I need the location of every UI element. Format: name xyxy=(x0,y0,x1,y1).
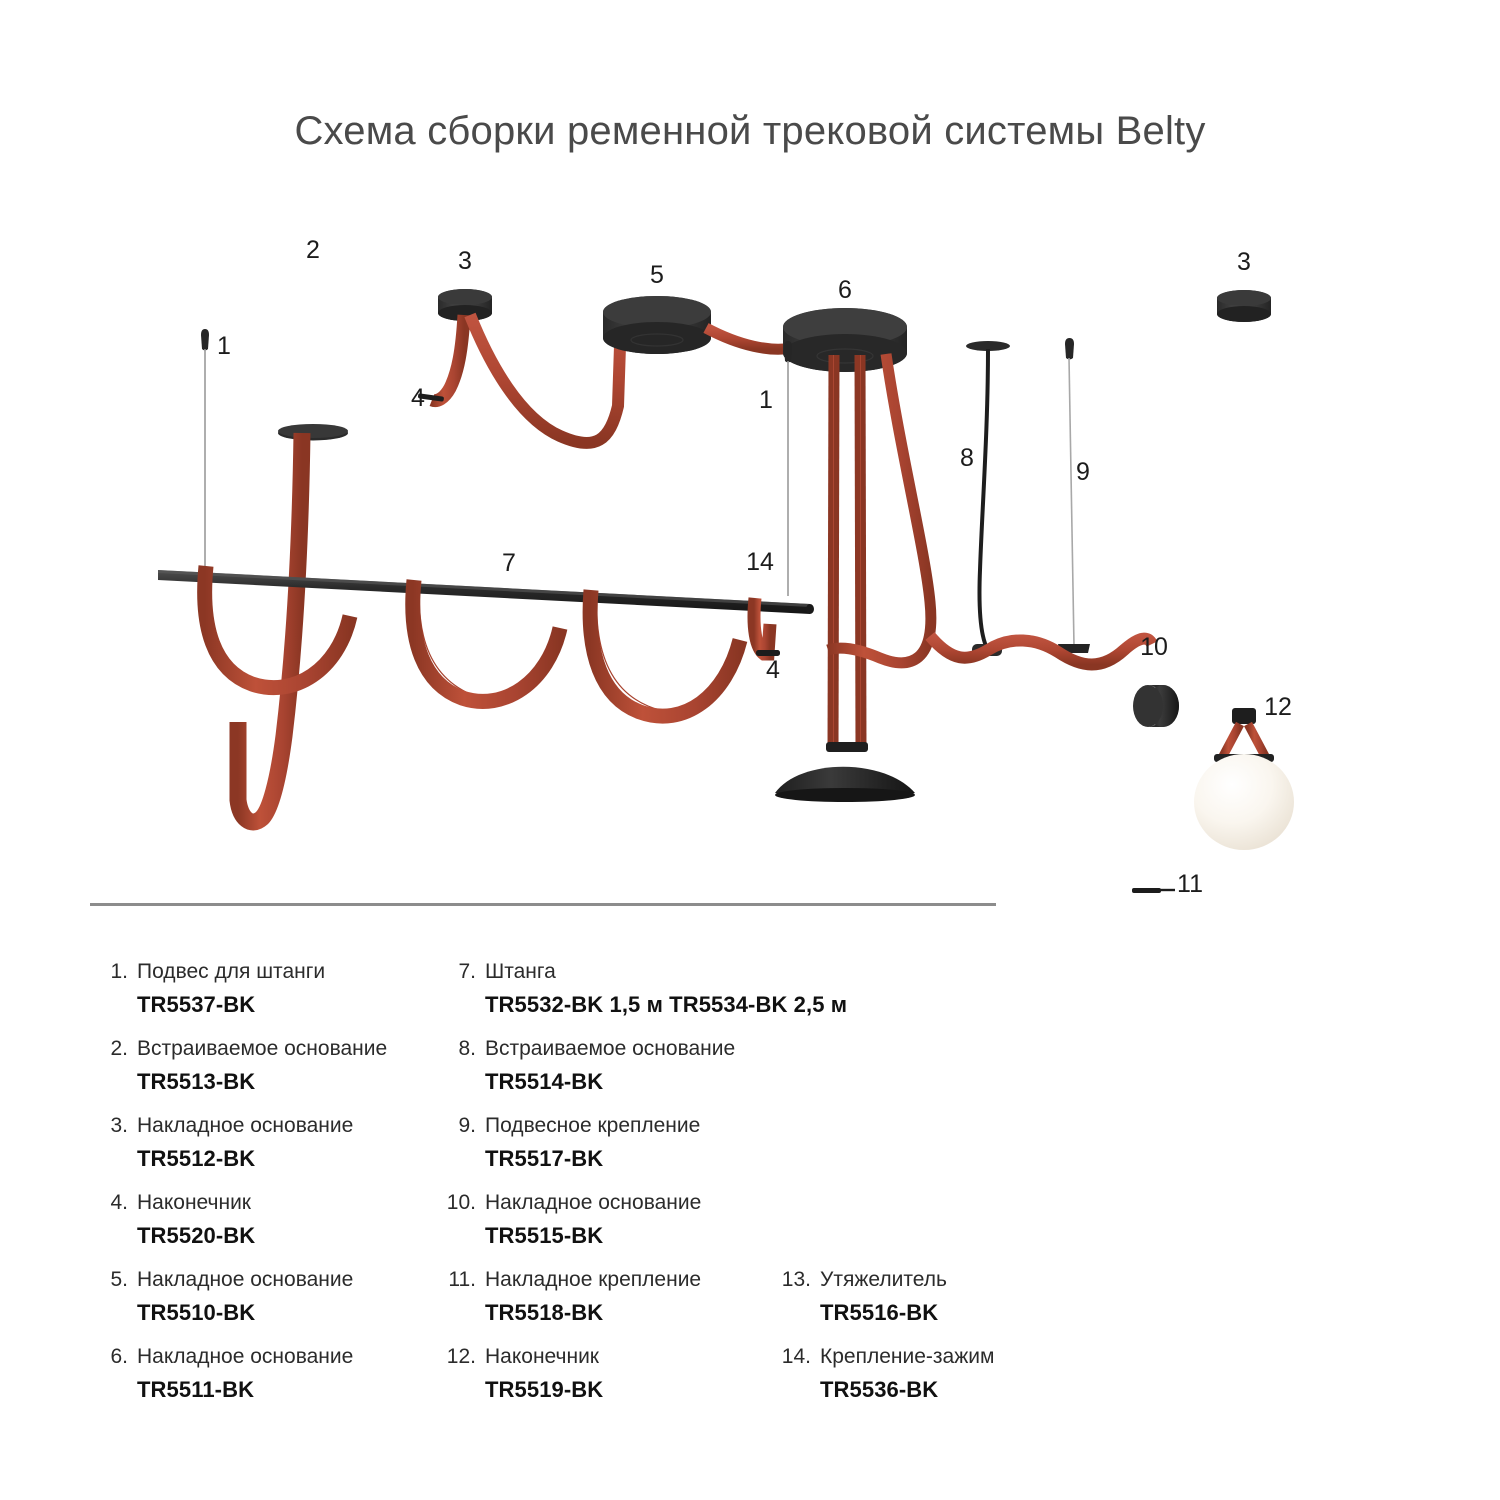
legend-item-code: TR5512-BK xyxy=(137,1146,353,1172)
legend-item: 11.Накладное креплениеTR5518-BK xyxy=(440,1268,701,1326)
legend-item-number: 2. xyxy=(104,1037,128,1060)
straps-from-base-6 xyxy=(828,354,931,750)
callout-14: 14 xyxy=(746,548,774,576)
legend-item-code: TR5518-BK xyxy=(485,1300,701,1326)
legend-item-name: Встраиваемое основание xyxy=(485,1037,735,1060)
assembly-diagram: 1234561714489103121113 xyxy=(0,150,1500,930)
legend-item-name: Подвесное крепление xyxy=(485,1114,700,1137)
legend-item-number: 1. xyxy=(104,960,128,983)
legend-item-number: 8. xyxy=(440,1037,476,1060)
legend-item-code: TR5517-BK xyxy=(485,1146,700,1172)
legend-item-name: Накладное основание xyxy=(137,1114,353,1137)
legend-item-name: Накладное основание xyxy=(137,1345,353,1368)
callout-12: 12 xyxy=(1264,693,1292,721)
legend-item-number: 5. xyxy=(104,1268,128,1291)
legend-item-head: 7.Штанга xyxy=(440,960,847,983)
legend-item-code: TR5510-BK xyxy=(137,1300,353,1326)
legend-item: 2.Встраиваемое основаниеTR5513-BK xyxy=(104,1037,387,1095)
callout-5: 5 xyxy=(650,261,664,289)
callout-1: 1 xyxy=(759,386,773,414)
callout-1: 1 xyxy=(217,332,231,360)
legend-item-head: 13.Утяжелитель xyxy=(775,1268,947,1291)
legend-item-code: TR5514-BK xyxy=(485,1069,735,1095)
legend-item: 13.УтяжелительTR5516-BK xyxy=(775,1268,947,1326)
callout-9: 9 xyxy=(1076,458,1090,486)
legend-item-name: Подвес для штанги xyxy=(137,960,325,983)
page-title: Схема сборки ременной трековой системы B… xyxy=(0,109,1500,154)
callout-10: 10 xyxy=(1140,633,1168,661)
legend-item: 5.Накладное основаниеTR5510-BK xyxy=(104,1268,353,1326)
legend-item-name: Утяжелитель xyxy=(820,1268,947,1291)
legend-item-code: TR5516-BK xyxy=(820,1300,947,1326)
legend-item: 9.Подвесное креплениеTR5517-BK xyxy=(440,1114,700,1172)
legend-item-name: Накладное основание xyxy=(137,1268,353,1291)
callout-3: 3 xyxy=(458,247,472,275)
legend-item: 6.Накладное основаниеTR5511-BK xyxy=(104,1345,353,1403)
part-1-rod-suspension-left xyxy=(201,329,209,580)
callout-3: 3 xyxy=(1237,248,1251,276)
legend-item-code: TR5519-BK xyxy=(485,1377,603,1403)
legend-item-head: 11.Накладное крепление xyxy=(440,1268,701,1291)
callout-4: 4 xyxy=(411,384,425,412)
legend-item-head: 1.Подвес для штанги xyxy=(104,960,325,983)
legend-item-head: 4.Наконечник xyxy=(104,1191,255,1214)
legend-item-name: Наконечник xyxy=(137,1191,251,1214)
callout-7: 7 xyxy=(502,549,516,577)
part-9-suspension-mount xyxy=(1058,338,1090,653)
legend-item-number: 7. xyxy=(440,960,476,983)
legend-item-number: 9. xyxy=(440,1114,476,1137)
legend-item-number: 4. xyxy=(104,1191,128,1214)
legend-item: 1.Подвес для штангиTR5537-BK xyxy=(104,960,325,1018)
legend-item: 3.Накладное основаниеTR5512-BK xyxy=(104,1114,353,1172)
part-2-recessed-base xyxy=(278,424,348,441)
part-1-rod-suspension-middle xyxy=(784,341,792,596)
legend-item: 4.НаконечникTR5520-BK xyxy=(104,1191,255,1249)
part-12-end-cap xyxy=(1232,708,1256,724)
legend-item-code: TR5532-BK 1,5 м TR5534-BK 2,5 м xyxy=(485,992,847,1018)
legend-item-head: 10.Накладное основание xyxy=(440,1191,701,1214)
part-8-recessed-base xyxy=(966,341,1010,656)
globe-lamp-shade xyxy=(1194,754,1294,850)
legend-item: 7.ШтангаTR5532-BK 1,5 м TR5534-BK 2,5 м xyxy=(440,960,847,1018)
legend-item-head: 2.Встраиваемое основание xyxy=(104,1037,387,1060)
callout-2: 2 xyxy=(306,236,320,264)
cone-lamp-shade xyxy=(775,742,915,802)
legend-item-number: 14. xyxy=(775,1345,811,1368)
legend-divider xyxy=(90,903,996,906)
callout-4: 4 xyxy=(766,656,780,684)
legend-item-code: TR5513-BK xyxy=(137,1069,387,1095)
strap-5-to-6 xyxy=(706,328,792,349)
callout-11: 11 xyxy=(1177,870,1203,898)
callout-8: 8 xyxy=(960,444,974,472)
legend-item: 14.Крепление-зажимTR5536-BK xyxy=(775,1345,994,1403)
part-7-rod xyxy=(158,570,814,614)
legend-item-number: 6. xyxy=(104,1345,128,1368)
legend-item-number: 12. xyxy=(440,1345,476,1368)
strap-from-base-2 xyxy=(238,433,324,850)
callout-6: 6 xyxy=(838,276,852,304)
legend-item-name: Накладное основание xyxy=(485,1191,701,1214)
legend-item-head: 3.Накладное основание xyxy=(104,1114,353,1137)
legend-item-name: Наконечник xyxy=(485,1345,599,1368)
legend-item-code: TR5515-BK xyxy=(485,1223,701,1249)
legend-item-code: TR5536-BK xyxy=(820,1377,994,1403)
parts-legend: 1.Подвес для штангиTR5537-BK2.Встраиваем… xyxy=(0,940,1500,1420)
legend-item-name: Штанга xyxy=(485,960,556,983)
legend-item: 10.Накладное основаниеTR5515-BK xyxy=(440,1191,701,1249)
part-5-surface-base xyxy=(603,296,711,354)
part-11-surface-clamp xyxy=(1132,888,1175,893)
legend-item-name: Накладное крепление xyxy=(485,1268,701,1291)
legend-item-code: TR5537-BK xyxy=(137,992,325,1018)
strap-horizontal-run xyxy=(930,636,1152,665)
legend-item-head: 12.Наконечник xyxy=(440,1345,603,1368)
legend-item-code: TR5520-BK xyxy=(137,1223,255,1249)
strap-3-to-5 xyxy=(470,315,620,443)
legend-item-code: TR5511-BK xyxy=(137,1377,353,1403)
legend-item-number: 3. xyxy=(104,1114,128,1137)
legend-item-head: 9.Подвесное крепление xyxy=(440,1114,700,1137)
part-10-surface-base-small xyxy=(1133,685,1179,727)
legend-item: 8.Встраиваемое основаниеTR5514-BK xyxy=(440,1037,735,1095)
legend-item-head: 6.Накладное основание xyxy=(104,1345,353,1368)
legend-item-number: 11. xyxy=(440,1268,476,1291)
legend-item-number: 13. xyxy=(775,1268,811,1291)
legend-item-name: Встраиваемое основание xyxy=(137,1037,387,1060)
legend-item-number: 10. xyxy=(440,1191,476,1214)
legend-item-head: 5.Накладное основание xyxy=(104,1268,353,1291)
legend-item-name: Крепление-зажим xyxy=(820,1345,994,1368)
legend-item: 12.НаконечникTR5519-BK xyxy=(440,1345,603,1403)
legend-item-head: 8.Встраиваемое основание xyxy=(440,1037,735,1060)
legend-item-head: 14.Крепление-зажим xyxy=(775,1345,994,1368)
